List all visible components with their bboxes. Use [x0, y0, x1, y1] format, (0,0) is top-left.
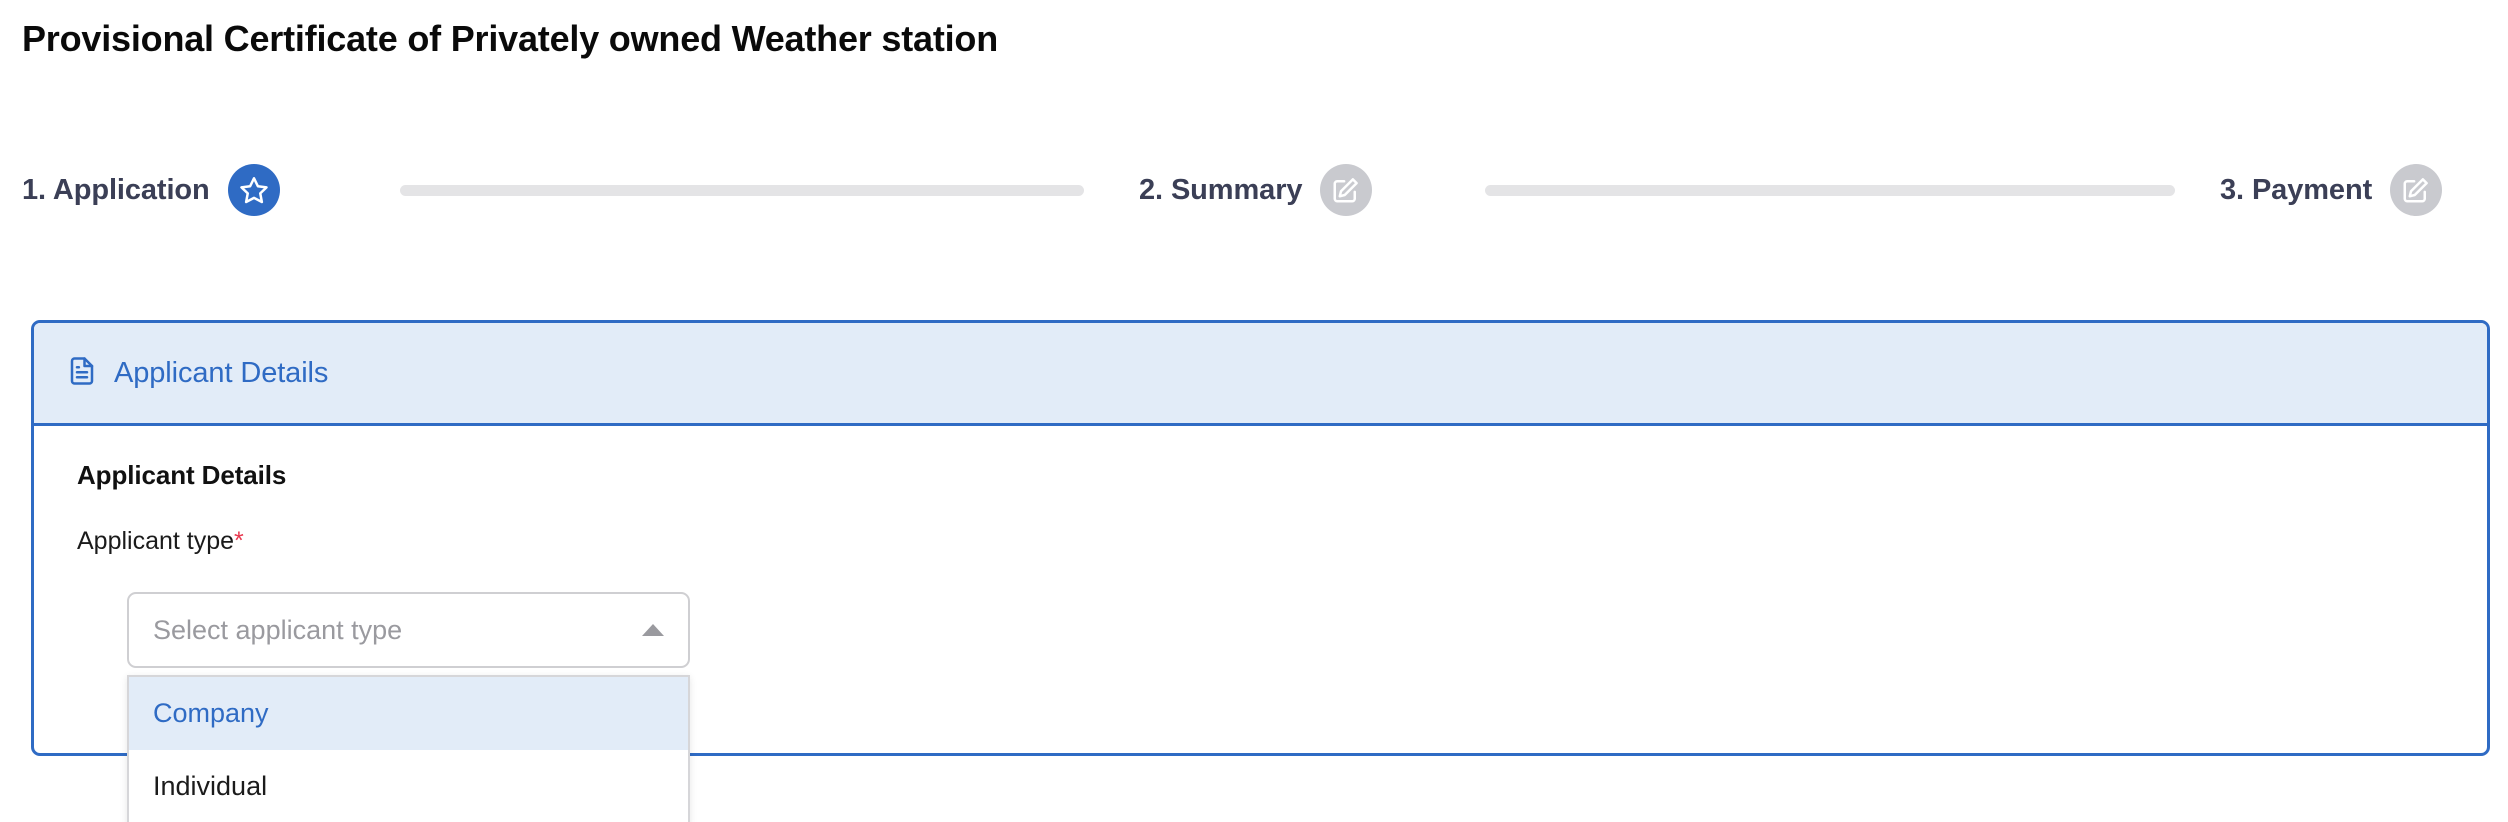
stepper-connector-2 [1485, 185, 2175, 196]
page-title: Provisional Certificate of Privately own… [22, 18, 998, 60]
star-icon [228, 164, 280, 216]
applicant-type-select[interactable]: Select applicant type [127, 592, 690, 668]
file-text-icon [67, 356, 97, 391]
select-option-company[interactable]: Company [129, 677, 688, 750]
required-asterisk: * [234, 527, 244, 555]
stepper-step-application-label: 1. Application [22, 174, 210, 207]
applicant-type-label-text: Applicant type [77, 527, 234, 555]
edit-square-icon [1320, 164, 1372, 216]
stepper-connector-1 [400, 185, 1084, 196]
stepper-step-summary[interactable]: 2. Summary [1139, 164, 1372, 216]
application-page: Provisional Certificate of Privately own… [0, 0, 2508, 822]
applicant-type-select-placeholder: Select applicant type [153, 615, 642, 646]
applicant-details-panel-body: Applicant Details Applicant type* [34, 426, 2487, 556]
applicant-type-select-menu: Company Individual [127, 675, 690, 822]
stepper-step-payment-label: 3. Payment [2220, 174, 2372, 207]
select-option-individual[interactable]: Individual [129, 750, 688, 822]
edit-square-icon [2390, 164, 2442, 216]
stepper-step-application[interactable]: 1. Application [22, 164, 280, 216]
panel-header-title: Applicant Details [114, 357, 328, 390]
applicant-type-select-wrapper: Select applicant type Company Individual [127, 592, 690, 668]
stepper-step-payment[interactable]: 3. Payment [2220, 164, 2442, 216]
applicant-details-panel: Applicant Details Applicant Details Appl… [31, 320, 2490, 756]
caret-up-icon[interactable] [642, 624, 664, 636]
stepper-step-summary-label: 2. Summary [1139, 174, 1302, 207]
applicant-type-label: Applicant type* [77, 527, 2487, 556]
section-heading: Applicant Details [77, 460, 2487, 491]
applicant-details-panel-header[interactable]: Applicant Details [34, 323, 2487, 426]
progress-stepper: 1. Application 2. Summary 3. Payment [0, 150, 2508, 250]
